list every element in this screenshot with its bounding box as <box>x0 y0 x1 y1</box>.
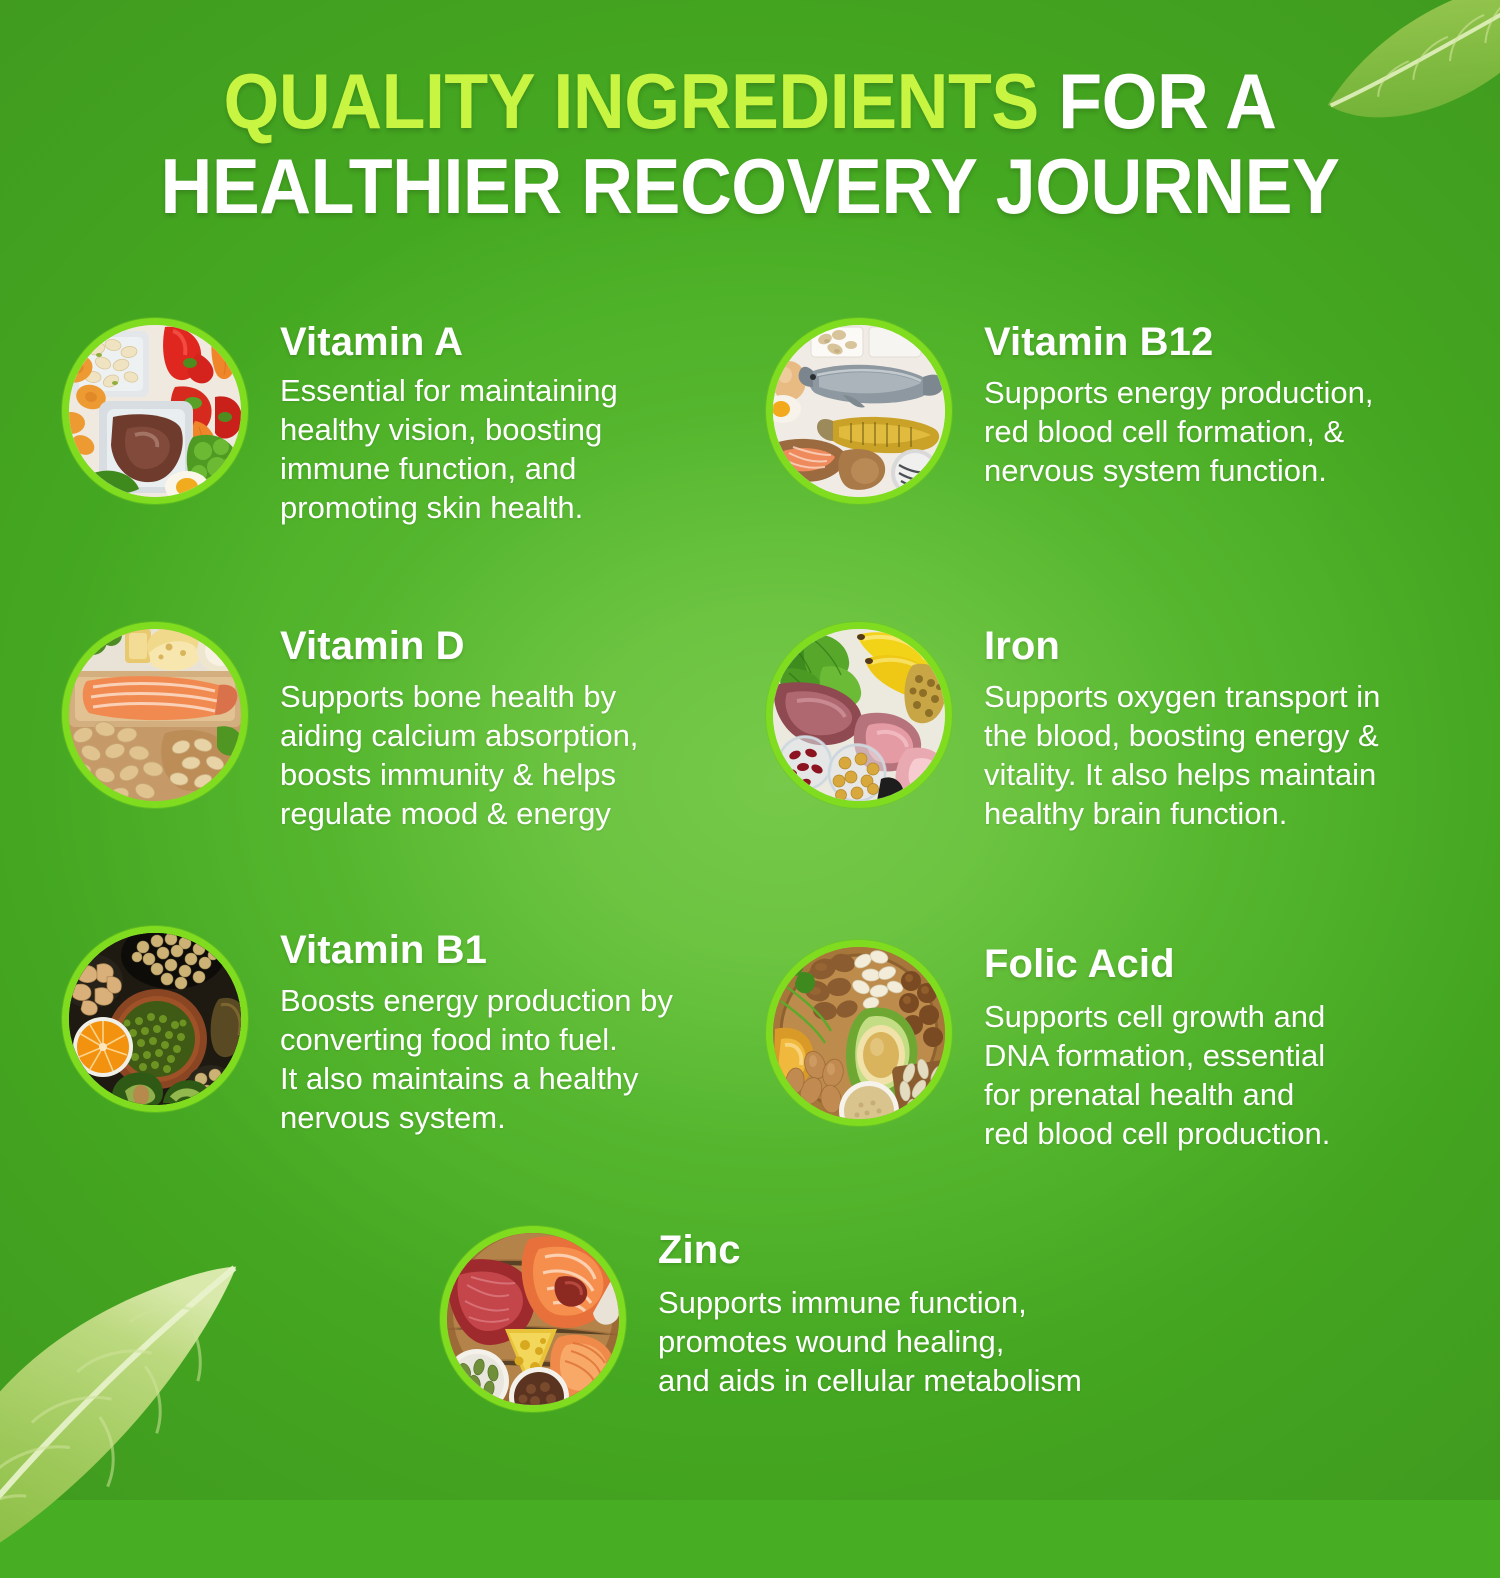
ingredient-card-vitamin-a: Vitamin A Essential for maintaining heal… <box>62 318 618 527</box>
title-accent-text: QUALITY INGREDIENTS <box>224 57 1039 145</box>
ingredient-thumb-vitamin-b12 <box>766 318 952 504</box>
page-title: QUALITY INGREDIENTS FOR A HEALTHIER RECO… <box>0 64 1500 224</box>
ingredient-thumb-vitamin-d <box>62 622 248 808</box>
ingredient-title: Iron <box>984 624 1380 669</box>
ingredient-description: Supports cell growth and DNA formation, … <box>984 997 1330 1153</box>
ingredient-thumb-vitamin-b1 <box>62 926 248 1112</box>
ingredient-title: Vitamin B12 <box>984 320 1373 365</box>
ingredient-description: Supports oxygen transport in the blood, … <box>984 677 1380 833</box>
ingredient-title: Folic Acid <box>984 942 1330 987</box>
ingredient-description: Essential for maintaining healthy vision… <box>280 371 618 527</box>
ingredient-title: Vitamin A <box>280 320 618 365</box>
ingredient-description: Supports energy production, red blood ce… <box>984 373 1373 490</box>
ingredient-title: Zinc <box>658 1228 1082 1273</box>
title-rest-text: FOR A <box>1039 57 1277 145</box>
ingredient-description: Supports bone health by aiding calcium a… <box>280 677 638 833</box>
ingredient-thumb-iron <box>766 622 952 808</box>
ingredient-title: Vitamin B1 <box>280 928 673 973</box>
ingredient-title: Vitamin D <box>280 624 638 669</box>
title-line-2: HEALTHIER RECOVERY JOURNEY <box>60 149 1440 224</box>
title-line-1: QUALITY INGREDIENTS FOR A <box>60 64 1440 139</box>
ingredient-description: Boosts energy production by converting f… <box>280 981 673 1137</box>
ingredient-card-vitamin-b12: Vitamin B12 Supports energy production, … <box>766 318 1373 504</box>
ingredient-card-iron: Iron Supports oxygen transport in the bl… <box>766 622 1380 833</box>
ingredient-card-folic-acid: Folic Acid Supports cell growth and DNA … <box>766 940 1330 1153</box>
ingredient-card-zinc: Zinc Supports immune function, promotes … <box>440 1226 1082 1412</box>
ingredient-thumb-zinc <box>440 1226 626 1412</box>
ingredient-thumb-vitamin-a <box>62 318 248 504</box>
ingredient-card-vitamin-d: Vitamin D Supports bone health by aiding… <box>62 622 638 833</box>
ingredient-card-vitamin-b1: Vitamin B1 Boosts energy production by c… <box>62 926 673 1137</box>
ingredient-thumb-folic-acid <box>766 940 952 1126</box>
ingredient-description: Supports immune function, promotes wound… <box>658 1283 1082 1400</box>
